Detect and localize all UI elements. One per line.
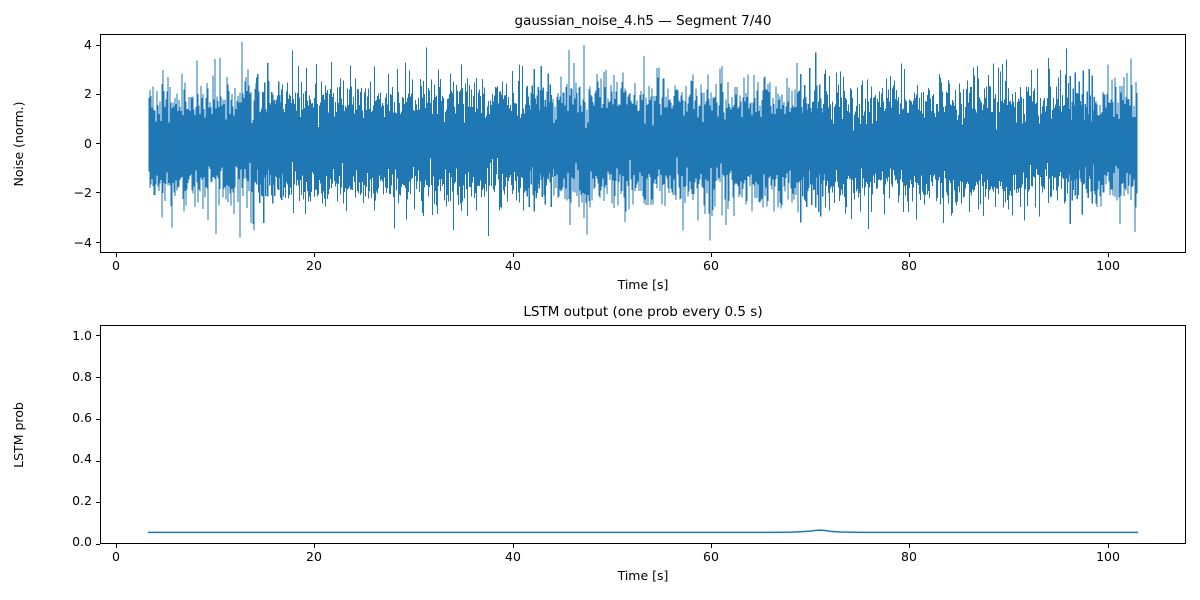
noise-xtickmark-20 — [314, 253, 315, 257]
noise-xtickmark-100 — [1108, 253, 1109, 257]
noise-xtick-80: 80 — [879, 259, 939, 273]
noise-ytickmark-neg2 — [96, 192, 100, 193]
lstm-xtickmark-100 — [1108, 544, 1109, 548]
noise-xtickmark-60 — [711, 253, 712, 257]
noise-ytick-neg4: −4 — [46, 236, 92, 250]
lstm-xtick-100: 100 — [1078, 550, 1138, 564]
noise-xtick-20: 20 — [284, 259, 344, 273]
noise-ytickmark-2 — [96, 94, 100, 95]
noise-ytickmark-neg4 — [96, 242, 100, 243]
lstm-ytick-02: 0.2 — [46, 494, 92, 508]
lstm-ytick-04: 0.4 — [46, 452, 92, 466]
lstm-ytickmark-00 — [96, 544, 100, 545]
lstm-plot-title: LSTM output (one prob every 0.5 s) — [100, 303, 1186, 321]
lstm-xtick-40: 40 — [483, 550, 543, 564]
lstm-ytickmark-06 — [96, 419, 100, 420]
noise-ytickmark-0 — [96, 143, 100, 144]
lstm-xaxis-label: Time [s] — [100, 568, 1186, 584]
lstm-ytick-00: 0.0 — [46, 535, 92, 549]
noise-xtick-100: 100 — [1078, 259, 1138, 273]
lstm-xtickmark-80 — [909, 544, 910, 548]
lstm-ytick-06: 0.6 — [46, 411, 92, 425]
matplotlib-figure: gaussian_noise_4.h5 — Segment 7/40 4 2 0… — [0, 0, 1200, 600]
lstm-xtickmark-40 — [513, 544, 514, 548]
noise-waveform-line — [101, 35, 1185, 252]
lstm-xtick-60: 60 — [681, 550, 741, 564]
lstm-yaxis-label: LSTM prob — [11, 325, 27, 545]
lstm-xtick-20: 20 — [284, 550, 344, 564]
noise-plot-title: gaussian_noise_4.h5 — Segment 7/40 — [100, 12, 1186, 30]
lstm-ytickmark-02 — [96, 502, 100, 503]
lstm-xtickmark-60 — [711, 544, 712, 548]
lstm-xtick-0: 0 — [86, 550, 146, 564]
lstm-xtickmark-20 — [314, 544, 315, 548]
noise-ytick-neg2: −2 — [46, 186, 92, 200]
lstm-xtick-80: 80 — [879, 550, 939, 564]
lstm-xtickmark-0 — [116, 544, 117, 548]
noise-xtick-60: 60 — [681, 259, 741, 273]
noise-ytick-0: 0 — [46, 137, 92, 151]
lstm-probability-line — [101, 326, 1185, 543]
lstm-ytickmark-10 — [96, 335, 100, 336]
noise-ytick-4: 4 — [46, 38, 92, 52]
noise-xtickmark-40 — [513, 253, 514, 257]
noise-xtickmark-80 — [909, 253, 910, 257]
noise-xtickmark-0 — [116, 253, 117, 257]
lstm-ytickmark-04 — [96, 461, 100, 462]
noise-xaxis-label: Time [s] — [100, 277, 1186, 293]
noise-ytickmark-4 — [96, 45, 100, 46]
noise-axes — [100, 34, 1186, 253]
lstm-axes — [100, 325, 1186, 544]
noise-ytick-2: 2 — [46, 87, 92, 101]
noise-xtick-0: 0 — [86, 259, 146, 273]
lstm-ytickmark-08 — [96, 377, 100, 378]
noise-yaxis-label: Noise (norm.) — [11, 34, 27, 254]
lstm-ytick-08: 0.8 — [46, 370, 92, 384]
noise-xtick-40: 40 — [483, 259, 543, 273]
lstm-ytick-10: 1.0 — [46, 329, 92, 343]
